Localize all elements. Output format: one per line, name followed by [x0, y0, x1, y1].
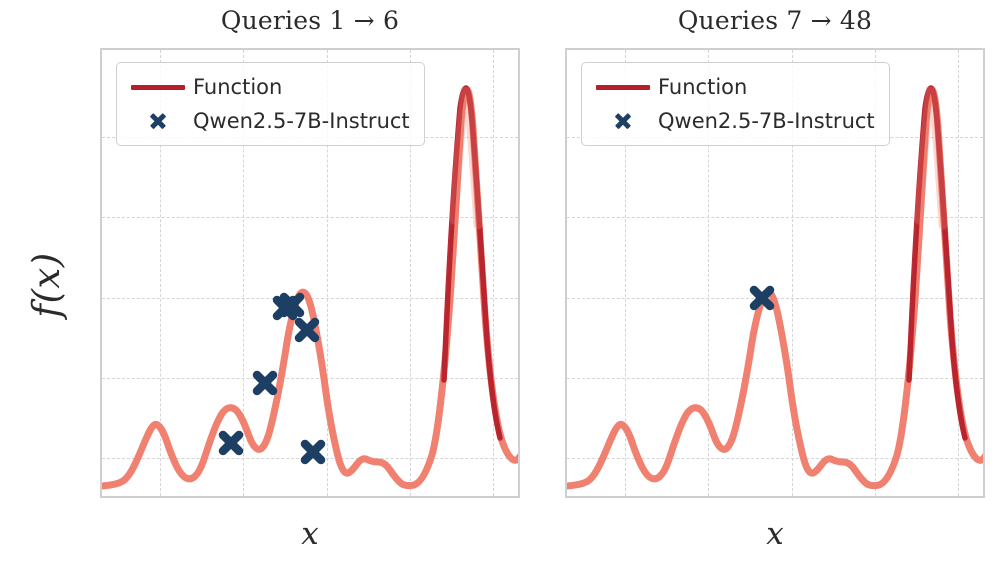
panel-queries-7-48: Queries 7 → 48 [565, 0, 985, 570]
legend-x-marker-icon [127, 111, 189, 131]
legend-entry-model: Qwen2.5-7B-Instruct [592, 106, 875, 136]
x-axis-label-right: x [565, 516, 985, 552]
marker-point [284, 297, 300, 313]
axes-left: Function Qwen2.5-7B-Instruct [100, 48, 520, 498]
panels-container: Queries 1 → 6 [100, 0, 996, 570]
marker-point [223, 435, 239, 451]
legend-left: Function Qwen2.5-7B-Instruct [116, 62, 425, 146]
y-axis-label: f(x) [25, 252, 68, 317]
legend-label-function: Function [654, 75, 747, 99]
legend-label-model: Qwen2.5-7B-Instruct [654, 109, 875, 133]
legend-x-marker-icon [592, 111, 654, 131]
legend-right: Function Qwen2.5-7B-Instruct [581, 62, 890, 146]
marker-point [305, 444, 321, 460]
y-axis-label-column: f(x) [0, 0, 100, 570]
legend-label-function: Function [189, 75, 282, 99]
marker-point [754, 290, 770, 306]
axes-right: Function Qwen2.5-7B-Instruct [565, 48, 985, 498]
legend-line-icon [592, 85, 654, 90]
legend-line-icon [127, 85, 189, 90]
x-axis-label-left: x [100, 516, 520, 552]
marker-point [257, 375, 273, 391]
marker-point [299, 322, 315, 338]
figure-root: f(x) Queries 1 → 6 [0, 0, 996, 570]
legend-entry-model: Qwen2.5-7B-Instruct [127, 106, 410, 136]
panel-queries-1-6: Queries 1 → 6 [100, 0, 520, 570]
panel-title-left: Queries 1 → 6 [100, 6, 520, 35]
legend-label-model: Qwen2.5-7B-Instruct [189, 109, 410, 133]
legend-entry-function: Function [592, 72, 875, 102]
panel-title-right: Queries 7 → 48 [565, 6, 985, 35]
legend-entry-function: Function [127, 72, 410, 102]
